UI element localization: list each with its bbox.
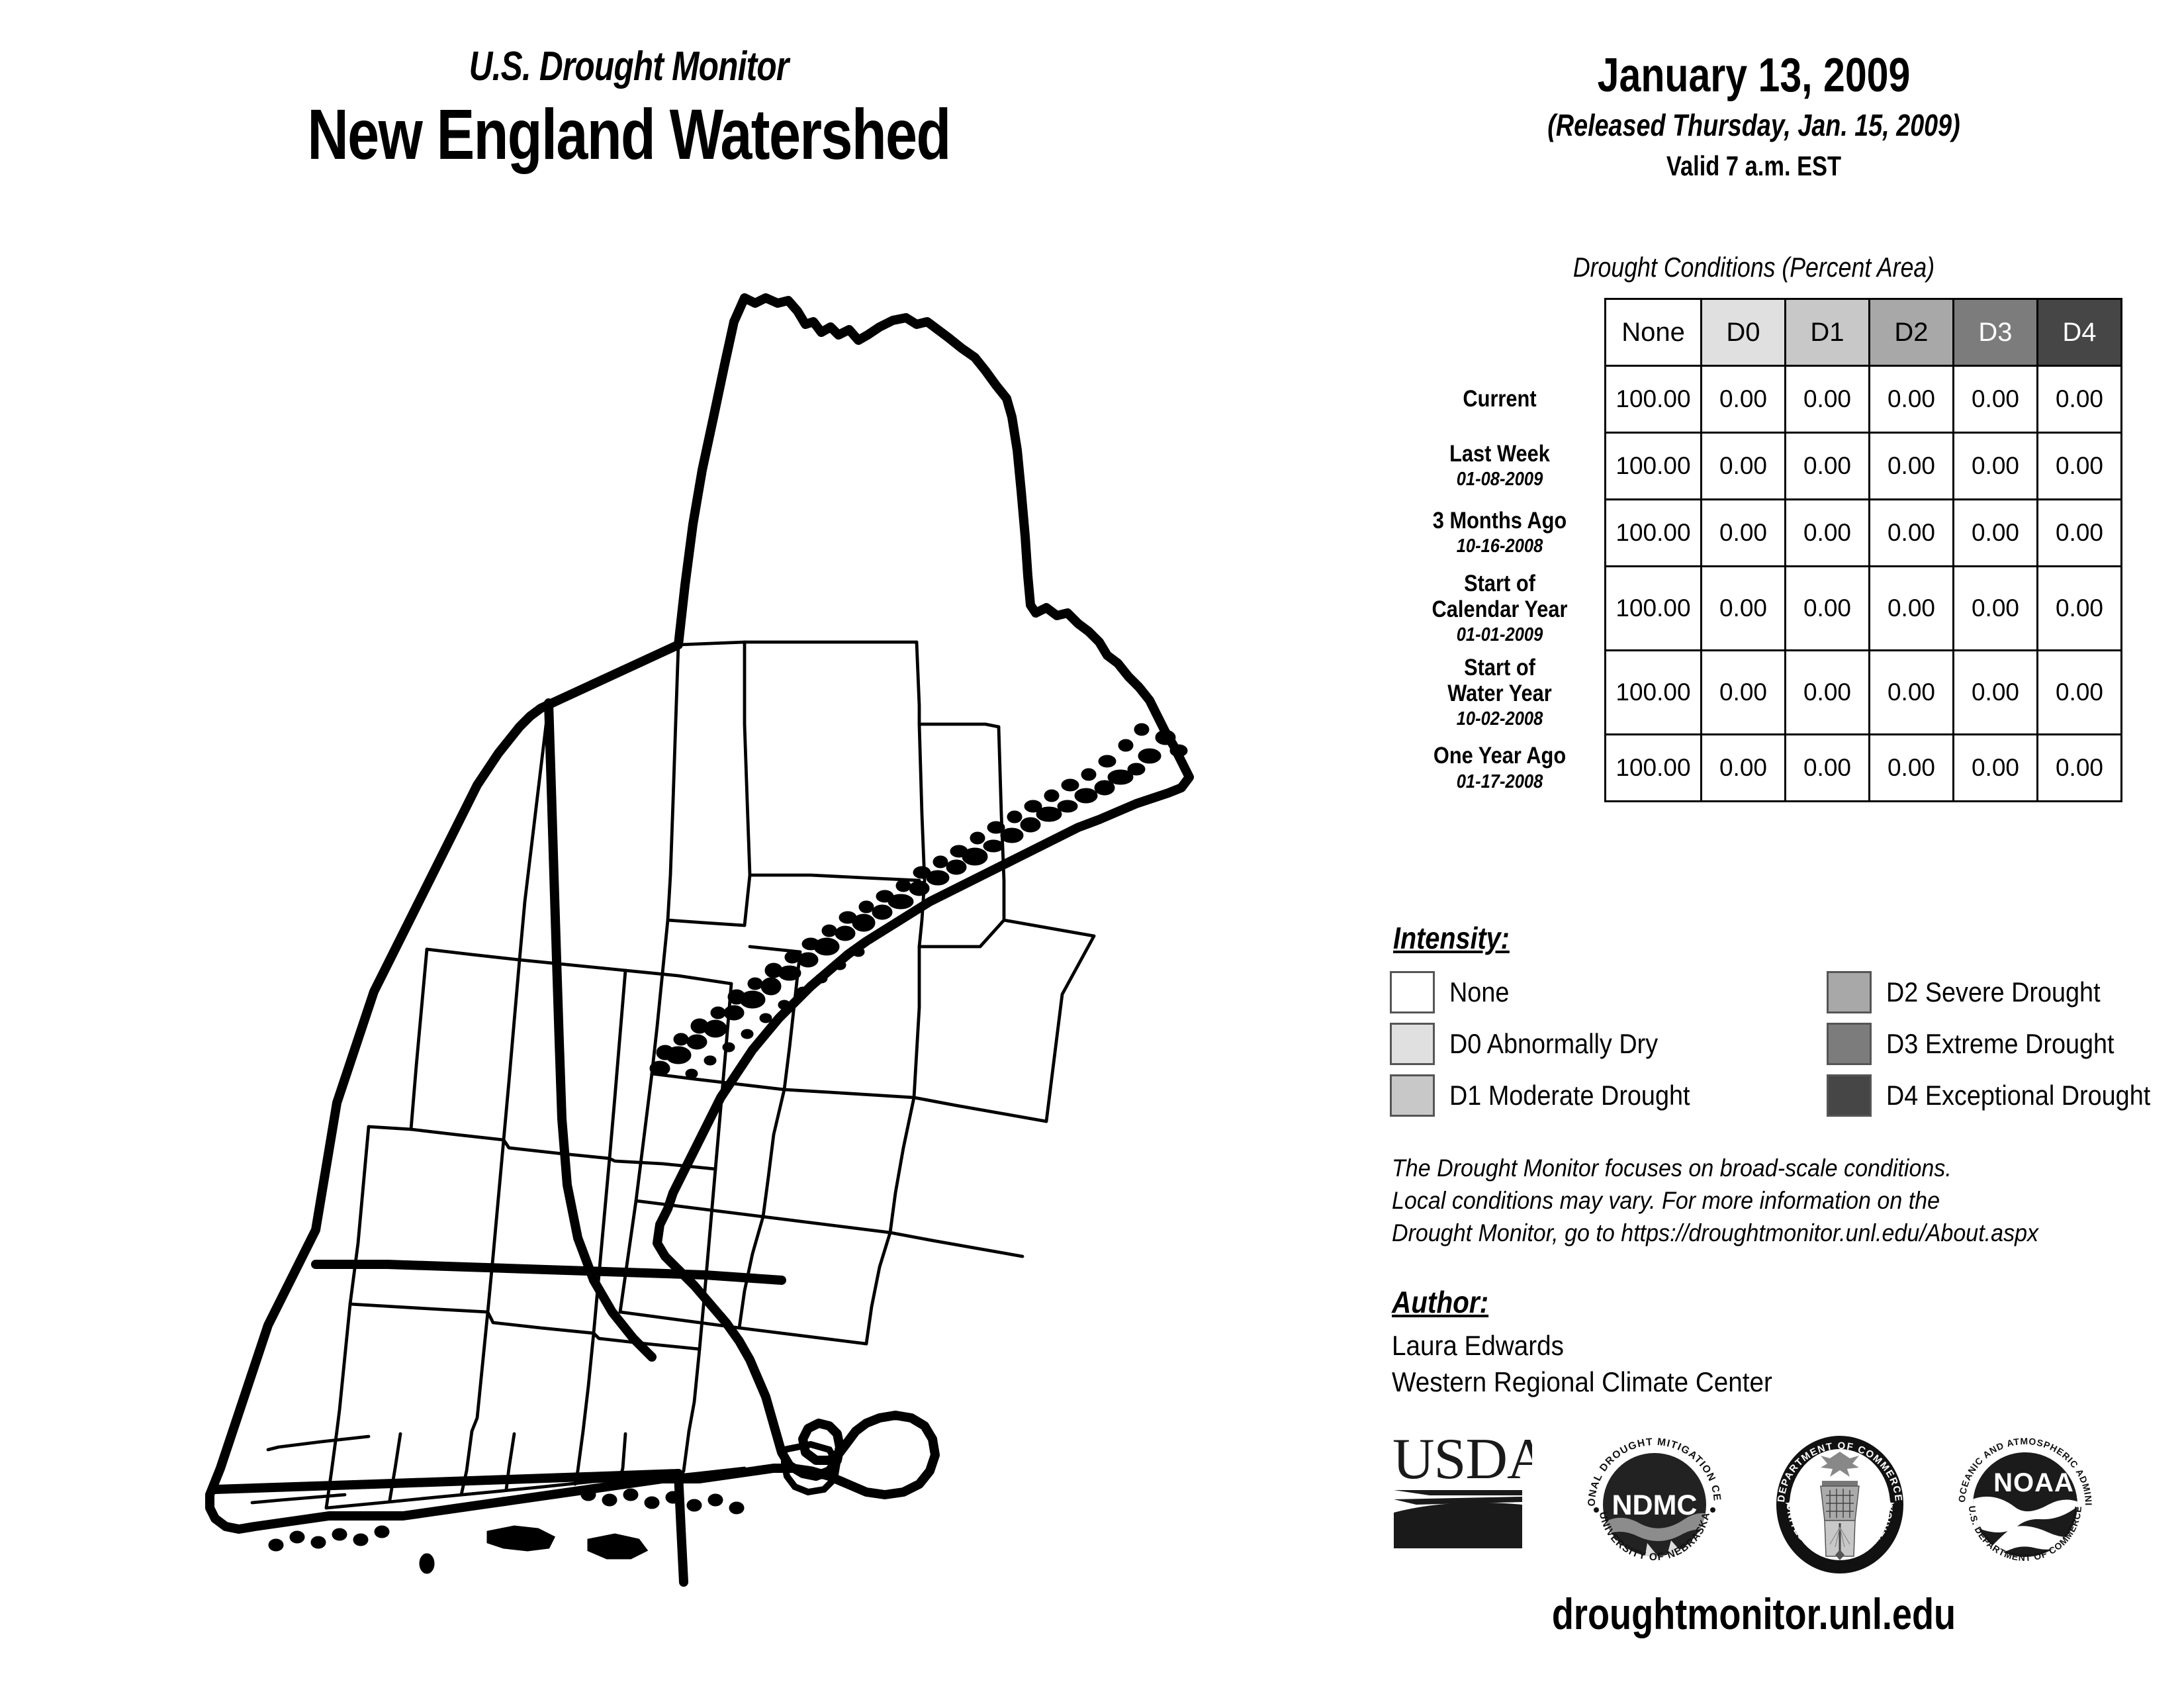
row-label: One Year Ago01-17-2008: [1395, 735, 1606, 802]
legend-item-left-1: D0 Abnormally Dry: [1390, 1018, 1717, 1070]
footer-url: droughtmonitor.unl.edu: [1428, 1589, 2079, 1639]
disclaimer-line-1: The Drought Monitor focuses on broad-sca…: [1392, 1152, 2104, 1184]
cell-d3: 0.00: [1954, 433, 2038, 500]
author-name: Laura Edwards: [1392, 1327, 1772, 1364]
author-heading: Author:: [1392, 1284, 1488, 1320]
row-label-date: 01-08-2009: [1412, 468, 1587, 491]
row-label-name: 3 Months Ago: [1412, 508, 1587, 534]
row-label-name: One Year Ago: [1412, 743, 1587, 769]
date-block: January 13, 2009 (Released Thursday, Jan…: [1357, 52, 2151, 180]
row-label-name: Start ofWater Year: [1412, 655, 1587, 706]
legend-swatch: [1827, 1023, 1872, 1065]
map-svg: [122, 258, 1274, 1615]
column-header-d3: D3: [1954, 299, 2038, 366]
legend-swatch: [1390, 1074, 1435, 1117]
legend-label: D0 Abnormally Dry: [1449, 1028, 1658, 1060]
cell-d4: 0.00: [2038, 735, 2122, 802]
legend-item-right-1: D3 Extreme Drought: [1827, 1018, 2180, 1070]
intensity-heading: Intensity:: [1393, 920, 1510, 956]
svg-text:USDA: USDA: [1392, 1427, 1532, 1491]
table-header-row: NoneD0D1D2D3D4: [1395, 299, 2122, 366]
column-header-d1: D1: [1786, 299, 1870, 366]
legend-label: D2 Severe Drought: [1886, 976, 2101, 1008]
legend-column-left: NoneD0 Abnormally DryD1 Moderate Drought: [1390, 966, 1717, 1121]
row-label-date: 10-16-2008: [1412, 535, 1587, 558]
row-label-date: 01-01-2009: [1412, 624, 1587, 647]
legend-label: D4 Exceptional Drought: [1886, 1080, 2150, 1111]
cell-d0: 0.00: [1702, 366, 1786, 433]
column-header-d4: D4: [2038, 299, 2122, 366]
legend-item-left-0: None: [1390, 966, 1717, 1018]
svg-text:NDMC: NDMC: [1612, 1489, 1698, 1521]
title-block: U.S. Drought Monitor New England Watersh…: [0, 46, 1257, 171]
table-row: Start ofCalendar Year01-01-2009100.000.0…: [1395, 567, 2122, 651]
cell-d4: 0.00: [2038, 651, 2122, 735]
cell-d0: 0.00: [1702, 567, 1786, 651]
drought-conditions-table: NoneD0D1D2D3D4 Current100.000.000.000.00…: [1395, 298, 2122, 802]
cell-d2: 0.00: [1870, 366, 1954, 433]
cell-d2: 0.00: [1870, 651, 1954, 735]
legend-item-right-2: D4 Exceptional Drought: [1827, 1070, 2180, 1121]
cell-d1: 0.00: [1786, 433, 1870, 500]
cell-none: 100.00: [1606, 366, 1702, 433]
release-date: (Released Thursday, Jan. 15, 2009): [1428, 110, 2079, 140]
cell-d3: 0.00: [1954, 500, 2038, 567]
cell-none: 100.00: [1606, 500, 1702, 567]
disclaimer-line-2: Local conditions may vary. For more info…: [1392, 1184, 2104, 1217]
cell-d1: 0.00: [1786, 500, 1870, 567]
cell-d1: 0.00: [1786, 735, 1870, 802]
program-title: U.S. Drought Monitor: [126, 46, 1132, 87]
legend-label: None: [1449, 976, 1509, 1008]
column-header-d2: D2: [1870, 299, 1954, 366]
cell-d2: 0.00: [1870, 567, 1954, 651]
cell-d0: 0.00: [1702, 651, 1786, 735]
header-corner-cell: [1395, 299, 1606, 366]
noaa-logo: NOAA NATIONAL OCEANIC AND ATMOSPHERIC AD…: [1949, 1427, 2101, 1579]
table-caption: Drought Conditions (Percent Area): [1416, 252, 2091, 283]
svg-text:★: ★: [1784, 1497, 1796, 1512]
map-date: January 13, 2009: [1428, 52, 2079, 99]
new-england-watershed-map: [122, 258, 1274, 1615]
cell-d0: 0.00: [1702, 735, 1786, 802]
page-title: New England Watershed: [126, 97, 1132, 171]
svg-text:★: ★: [1884, 1497, 1895, 1512]
table-row: Last Week01-08-2009100.000.000.000.000.0…: [1395, 433, 2122, 500]
row-label: Start ofCalendar Year01-01-2009: [1395, 567, 1606, 651]
legend-swatch: [1827, 971, 1872, 1013]
usda-logo: USDA: [1390, 1427, 1532, 1559]
author-block: Laura Edwards Western Regional Climate C…: [1392, 1327, 1772, 1401]
cell-d4: 0.00: [2038, 433, 2122, 500]
cell-d1: 0.00: [1786, 366, 1870, 433]
legend-column-right: D2 Severe DroughtD3 Extreme DroughtD4 Ex…: [1827, 966, 2180, 1121]
row-label-name: Last Week: [1412, 441, 1587, 467]
cell-none: 100.00: [1606, 567, 1702, 651]
column-header-d0: D0: [1702, 299, 1786, 366]
cell-d4: 0.00: [2038, 366, 2122, 433]
row-label: 3 Months Ago10-16-2008: [1395, 500, 1606, 567]
cell-d2: 0.00: [1870, 433, 1954, 500]
row-label-date: 10-02-2008: [1412, 708, 1587, 731]
cell-d1: 0.00: [1786, 651, 1870, 735]
table-row: 3 Months Ago10-16-2008100.000.000.000.00…: [1395, 500, 2122, 567]
table-row: Current100.000.000.000.000.000.00: [1395, 366, 2122, 433]
legend-swatch: [1827, 1074, 1872, 1117]
cell-d0: 0.00: [1702, 433, 1786, 500]
legend-swatch: [1390, 971, 1435, 1013]
cell-d2: 0.00: [1870, 500, 1954, 567]
valid-time: Valid 7 a.m. EST: [1428, 152, 2079, 180]
cell-none: 100.00: [1606, 433, 1702, 500]
disclaimer-line-3: Drought Monitor, go to https://droughtmo…: [1392, 1217, 2104, 1249]
cell-d0: 0.00: [1702, 500, 1786, 567]
cell-d1: 0.00: [1786, 567, 1870, 651]
department-of-commerce-logo: DEPARTMENT OF COMMERCE UNITED STATES OF …: [1764, 1427, 1916, 1579]
legend-item-left-2: D1 Moderate Drought: [1390, 1070, 1717, 1121]
cell-none: 100.00: [1606, 735, 1702, 802]
table-row: One Year Ago01-17-2008100.000.000.000.00…: [1395, 735, 2122, 802]
logo-row: USDA NDMC NATIONAL DROUGHT MITIGATION CE…: [1383, 1427, 2164, 1579]
cell-d3: 0.00: [1954, 567, 2038, 651]
row-label: Start ofWater Year10-02-2008: [1395, 651, 1606, 735]
row-label-name: Current: [1412, 386, 1587, 412]
legend-label: D3 Extreme Drought: [1886, 1028, 2115, 1060]
cell-d3: 0.00: [1954, 735, 2038, 802]
cell-d3: 0.00: [1954, 366, 2038, 433]
table-row: Start ofWater Year10-02-2008100.000.000.…: [1395, 651, 2122, 735]
row-label: Current: [1395, 366, 1606, 433]
legend-label: D1 Moderate Drought: [1449, 1080, 1690, 1111]
cell-d3: 0.00: [1954, 651, 2038, 735]
cell-none: 100.00: [1606, 651, 1702, 735]
author-affiliation: Western Regional Climate Center: [1392, 1364, 1772, 1400]
column-header-none: None: [1606, 299, 1702, 366]
svg-text:NOAA: NOAA: [1993, 1468, 2074, 1497]
ndmc-logo: NDMC NATIONAL DROUGHT MITIGATION CENTER …: [1578, 1427, 1731, 1579]
cell-d4: 0.00: [2038, 500, 2122, 567]
cell-d2: 0.00: [1870, 735, 1954, 802]
legend-swatch: [1390, 1023, 1435, 1065]
row-label-date: 01-17-2008: [1412, 771, 1587, 794]
row-label: Last Week01-08-2009: [1395, 433, 1606, 500]
row-label-name: Start ofCalendar Year: [1412, 571, 1587, 622]
disclaimer-text: The Drought Monitor focuses on broad-sca…: [1392, 1152, 2104, 1250]
cell-d4: 0.00: [2038, 567, 2122, 651]
legend-item-right-0: D2 Severe Drought: [1827, 966, 2180, 1018]
